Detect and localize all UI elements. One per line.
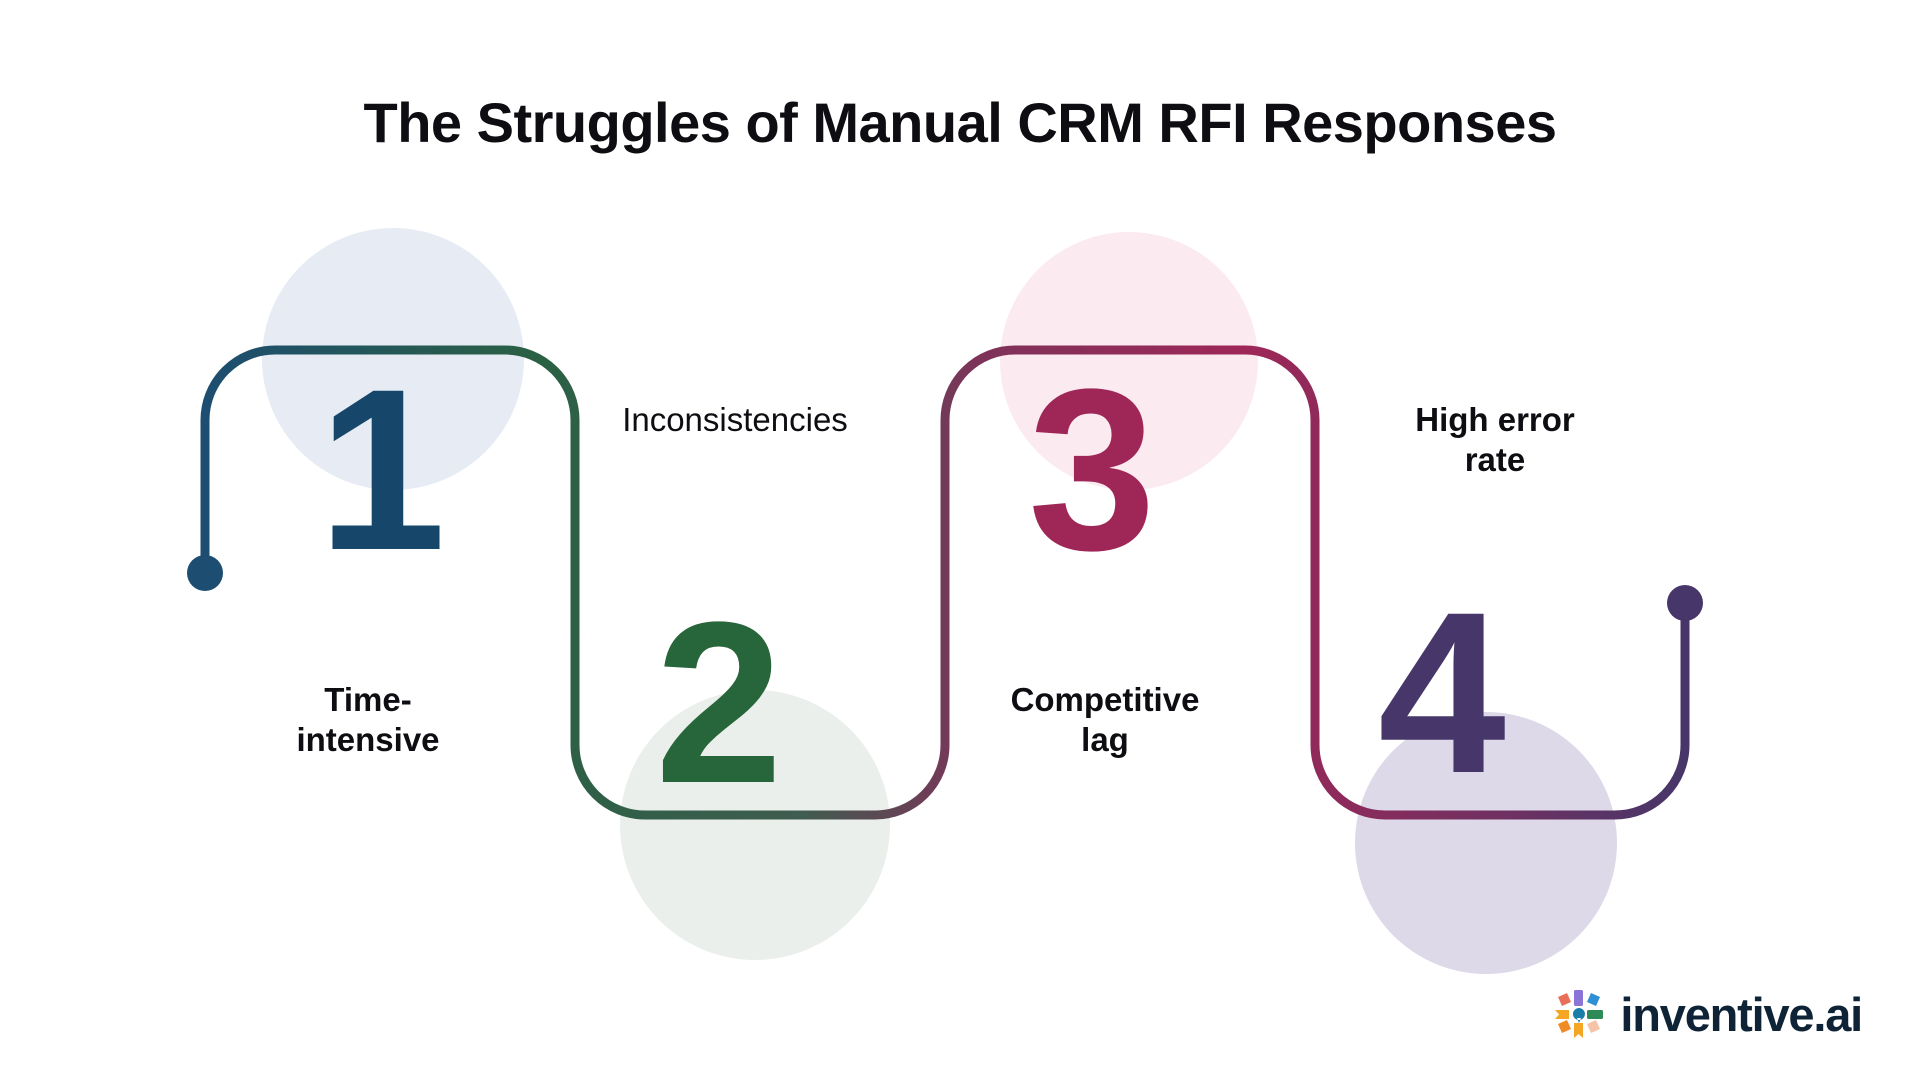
step-label-4: High error rate xyxy=(1345,400,1645,481)
step-label-4-line-2: rate xyxy=(1345,440,1645,480)
step-label-3-line-1: Competitive xyxy=(955,680,1255,720)
infographic-canvas: The Struggles of Manual CRM RFI Response… xyxy=(0,0,1920,1080)
step-label-1: Time- intensive xyxy=(218,680,518,761)
start-dot xyxy=(187,555,223,591)
step-label-3-line-2: lag xyxy=(955,720,1255,760)
brand-logo: inventive.ai xyxy=(1552,987,1862,1042)
end-dot xyxy=(1667,585,1703,621)
step-number-2: 2 xyxy=(655,588,777,818)
inventive-pinwheel-icon xyxy=(1552,988,1606,1042)
step-label-4-line-1: High error xyxy=(1345,400,1645,440)
step-number-3: 3 xyxy=(1028,355,1150,585)
step-label-2-line-1: Inconsistencies xyxy=(545,400,925,440)
logo-text: inventive.ai xyxy=(1620,987,1862,1042)
step-label-3: Competitive lag xyxy=(955,680,1255,761)
step-label-1-line-1: Time- xyxy=(218,680,518,720)
step-label-1-line-2: intensive xyxy=(218,720,518,760)
connector-path xyxy=(0,0,1920,1080)
step-number-1: 1 xyxy=(318,355,440,585)
step-label-2: Inconsistencies xyxy=(545,400,925,440)
step-number-4: 4 xyxy=(1378,578,1500,808)
